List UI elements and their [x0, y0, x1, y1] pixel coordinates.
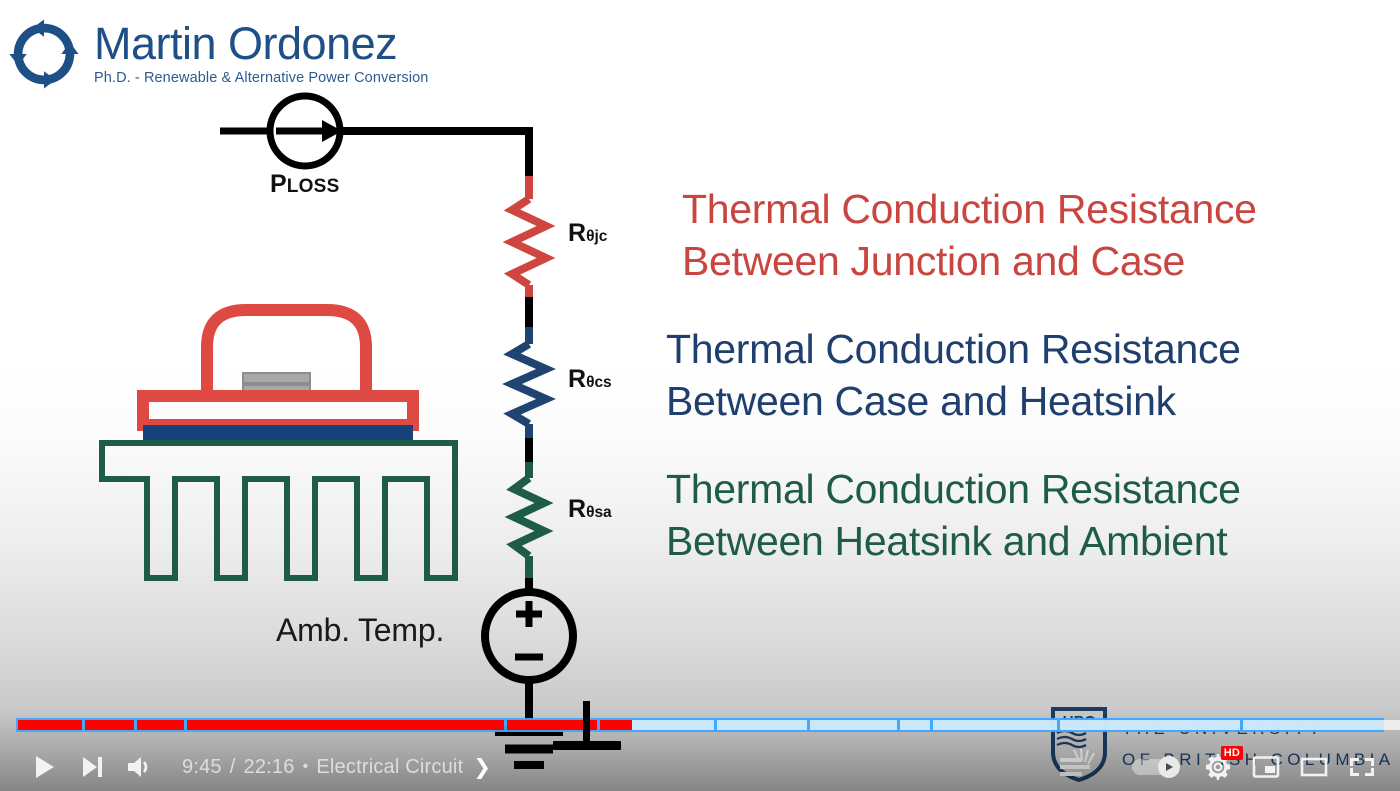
time-separator: / — [230, 756, 236, 779]
video-player: Martin Ordonez Ph.D. - Renewable & Alter… — [0, 0, 1400, 791]
chapter-segment[interactable] — [1060, 720, 1240, 730]
chapter-title[interactable]: Electrical Circuit — [316, 756, 463, 779]
chapter-segment[interactable] — [933, 720, 1057, 730]
time-current: 9:45 — [182, 756, 222, 779]
resistor-label-junction-case: Rθjc — [568, 219, 607, 248]
fullscreen-button[interactable] — [1338, 743, 1386, 791]
play-button[interactable] — [20, 743, 68, 791]
autoplay-icon — [1163, 761, 1175, 773]
chapter-segment[interactable] — [18, 720, 82, 730]
time-total: 22:16 — [244, 756, 295, 779]
chapter-segment[interactable] — [600, 720, 713, 730]
controls-row: 9:45 / 22:16 • Electrical Circuit ❯ — [0, 743, 1400, 791]
chapter-played-fill — [85, 720, 134, 730]
chevron-right-icon[interactable]: ❯ — [473, 755, 491, 780]
volume-button[interactable] — [116, 743, 164, 791]
chapter-segment[interactable] — [187, 720, 505, 730]
chapter-segment[interactable] — [1243, 720, 1400, 730]
miniplayer-icon — [1252, 754, 1280, 780]
chapter-segment[interactable] — [717, 720, 807, 730]
chapter-played-fill — [18, 720, 82, 730]
annotation-heatsink-ambient: Thermal Conduction Resistance Between He… — [666, 463, 1241, 567]
chapter-played-fill — [600, 720, 632, 730]
resistor-label-case-sink: Rθcs — [568, 365, 612, 394]
autoplay-knob — [1158, 756, 1180, 778]
ambient-temperature-label: Amb. Temp. — [276, 612, 444, 649]
video-slide: Martin Ordonez Ph.D. - Renewable & Alter… — [0, 0, 1400, 791]
miniplayer-button[interactable] — [1242, 743, 1290, 791]
resistor-label-sink-ambient: Rθsa — [568, 495, 612, 524]
annotation-case-heatsink: Thermal Conduction Resistance Between Ca… — [666, 323, 1241, 427]
theater-button[interactable] — [1290, 743, 1338, 791]
progress-bar[interactable] — [0, 713, 1400, 739]
chapter-segment[interactable] — [137, 720, 183, 730]
right-controls: HD — [1132, 743, 1386, 791]
chapter-segment[interactable] — [900, 720, 930, 730]
next-icon — [79, 754, 105, 780]
fullscreen-icon — [1348, 754, 1376, 780]
chapter-played-fill — [187, 720, 505, 730]
annotation-junction-case: Thermal Conduction Resistance Between Ju… — [676, 183, 1257, 287]
volume-icon — [126, 754, 154, 780]
settings-button[interactable]: HD — [1194, 743, 1242, 791]
autoplay-toggle[interactable] — [1132, 756, 1184, 778]
chapter-segments[interactable] — [18, 720, 1382, 730]
scrubber-handle[interactable] — [583, 701, 590, 741]
separator-bullet: • — [303, 758, 309, 776]
chapter-played-fill — [137, 720, 183, 730]
player-controls-bar: 9:45 / 22:16 • Electrical Circuit ❯ — [0, 709, 1400, 791]
chapter-segment[interactable] — [810, 720, 897, 730]
hd-badge: HD — [1221, 746, 1243, 760]
current-source-label: PLOSS — [270, 170, 340, 199]
next-video-button[interactable] — [68, 743, 116, 791]
play-icon — [31, 754, 57, 780]
time-and-chapter: 9:45 / 22:16 • Electrical Circuit ❯ — [182, 755, 491, 780]
chapter-segment[interactable] — [85, 720, 134, 730]
theater-icon — [1300, 754, 1328, 780]
